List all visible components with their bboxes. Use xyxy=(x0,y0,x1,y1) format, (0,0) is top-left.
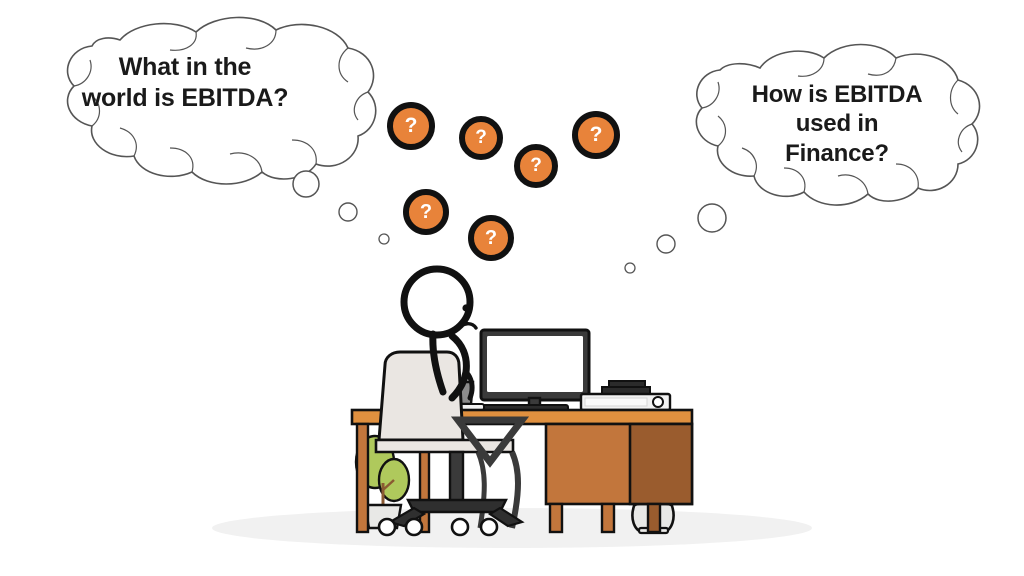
thought-trail-circle-medium xyxy=(657,235,675,253)
thought-bubble-right xyxy=(625,45,980,274)
computer-monitor xyxy=(481,330,589,414)
question-badge xyxy=(462,119,500,157)
thought-trail-circle-small xyxy=(625,263,635,273)
question-badge xyxy=(517,147,555,185)
question-badge xyxy=(390,105,432,147)
thought-trail-circle-medium xyxy=(339,203,357,221)
thought-trail-circle-large xyxy=(698,204,726,232)
question-badge xyxy=(575,114,617,156)
question-badge xyxy=(471,218,511,258)
question-mark-badges xyxy=(390,105,617,258)
workspace xyxy=(352,269,692,535)
binder-tray xyxy=(581,394,670,410)
thought-trail-circle-large xyxy=(293,171,319,197)
thought-bubble-left xyxy=(68,17,389,244)
person-eye xyxy=(462,304,469,311)
scene-illustration xyxy=(0,0,1024,576)
illustration-canvas: What in the world is EBITDA? How is EBIT… xyxy=(0,0,1024,576)
question-badge xyxy=(406,192,446,232)
thought-trail-circle-small xyxy=(379,234,389,244)
